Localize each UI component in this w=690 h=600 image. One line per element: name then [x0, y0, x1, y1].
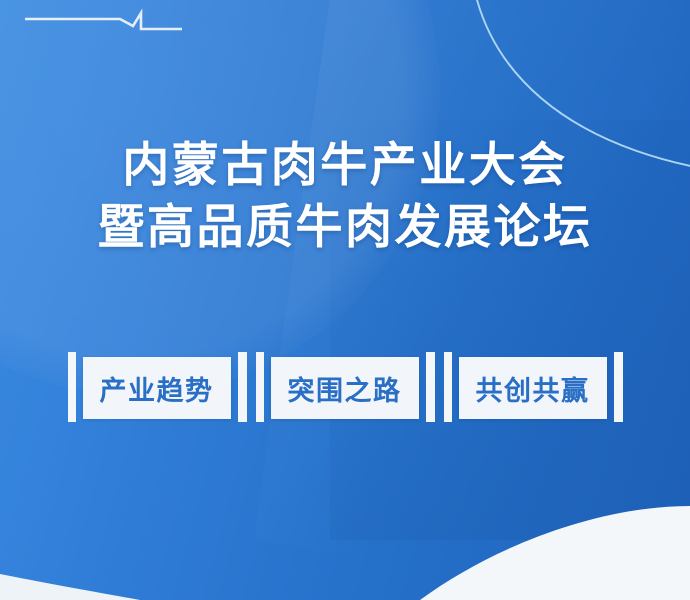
- title-line-2: 暨高品质牛肉发展论坛: [0, 196, 690, 258]
- tag-accent-bar-left: [256, 352, 264, 422]
- topic-tag-industry-trend[interactable]: 产业趋势: [68, 352, 247, 424]
- tag-accent-bar-left: [68, 352, 76, 422]
- decorative-lines-layer: [0, 0, 690, 600]
- tag-accent-bar-left: [444, 352, 452, 422]
- tag-label: 共创共赢: [476, 369, 590, 408]
- tag-box[interactable]: 共创共赢: [459, 357, 607, 419]
- tag-box[interactable]: 产业趋势: [83, 357, 231, 419]
- wave-shape-icon: [420, 506, 690, 600]
- topic-tag-win-win[interactable]: 共创共赢: [444, 352, 623, 424]
- tag-label: 突围之路: [288, 369, 402, 408]
- title-line-1: 内蒙古肉牛产业大会: [0, 134, 690, 196]
- tag-accent-bar-right: [238, 352, 247, 422]
- wave-sliver-icon: [0, 574, 140, 600]
- tag-accent-bar-right: [426, 352, 435, 422]
- conference-poster: 内蒙古肉牛产业大会 暨高品质牛肉发展论坛 产业趋势 突围之路: [0, 0, 690, 600]
- tag-accent-bar-right: [614, 352, 623, 422]
- tag-label: 产业趋势: [100, 369, 214, 408]
- topic-tag-breakthrough-path[interactable]: 突围之路: [256, 352, 435, 424]
- sheen-overlay: [254, 0, 690, 600]
- bottom-wave-decoration: [0, 460, 690, 600]
- page-title: 内蒙古肉牛产业大会 暨高品质牛肉发展论坛: [0, 134, 690, 258]
- tag-box[interactable]: 突围之路: [271, 357, 419, 419]
- topic-tag-row: 产业趋势 突围之路 共创共赢: [0, 352, 690, 424]
- ekg-line-icon: [25, 13, 182, 29]
